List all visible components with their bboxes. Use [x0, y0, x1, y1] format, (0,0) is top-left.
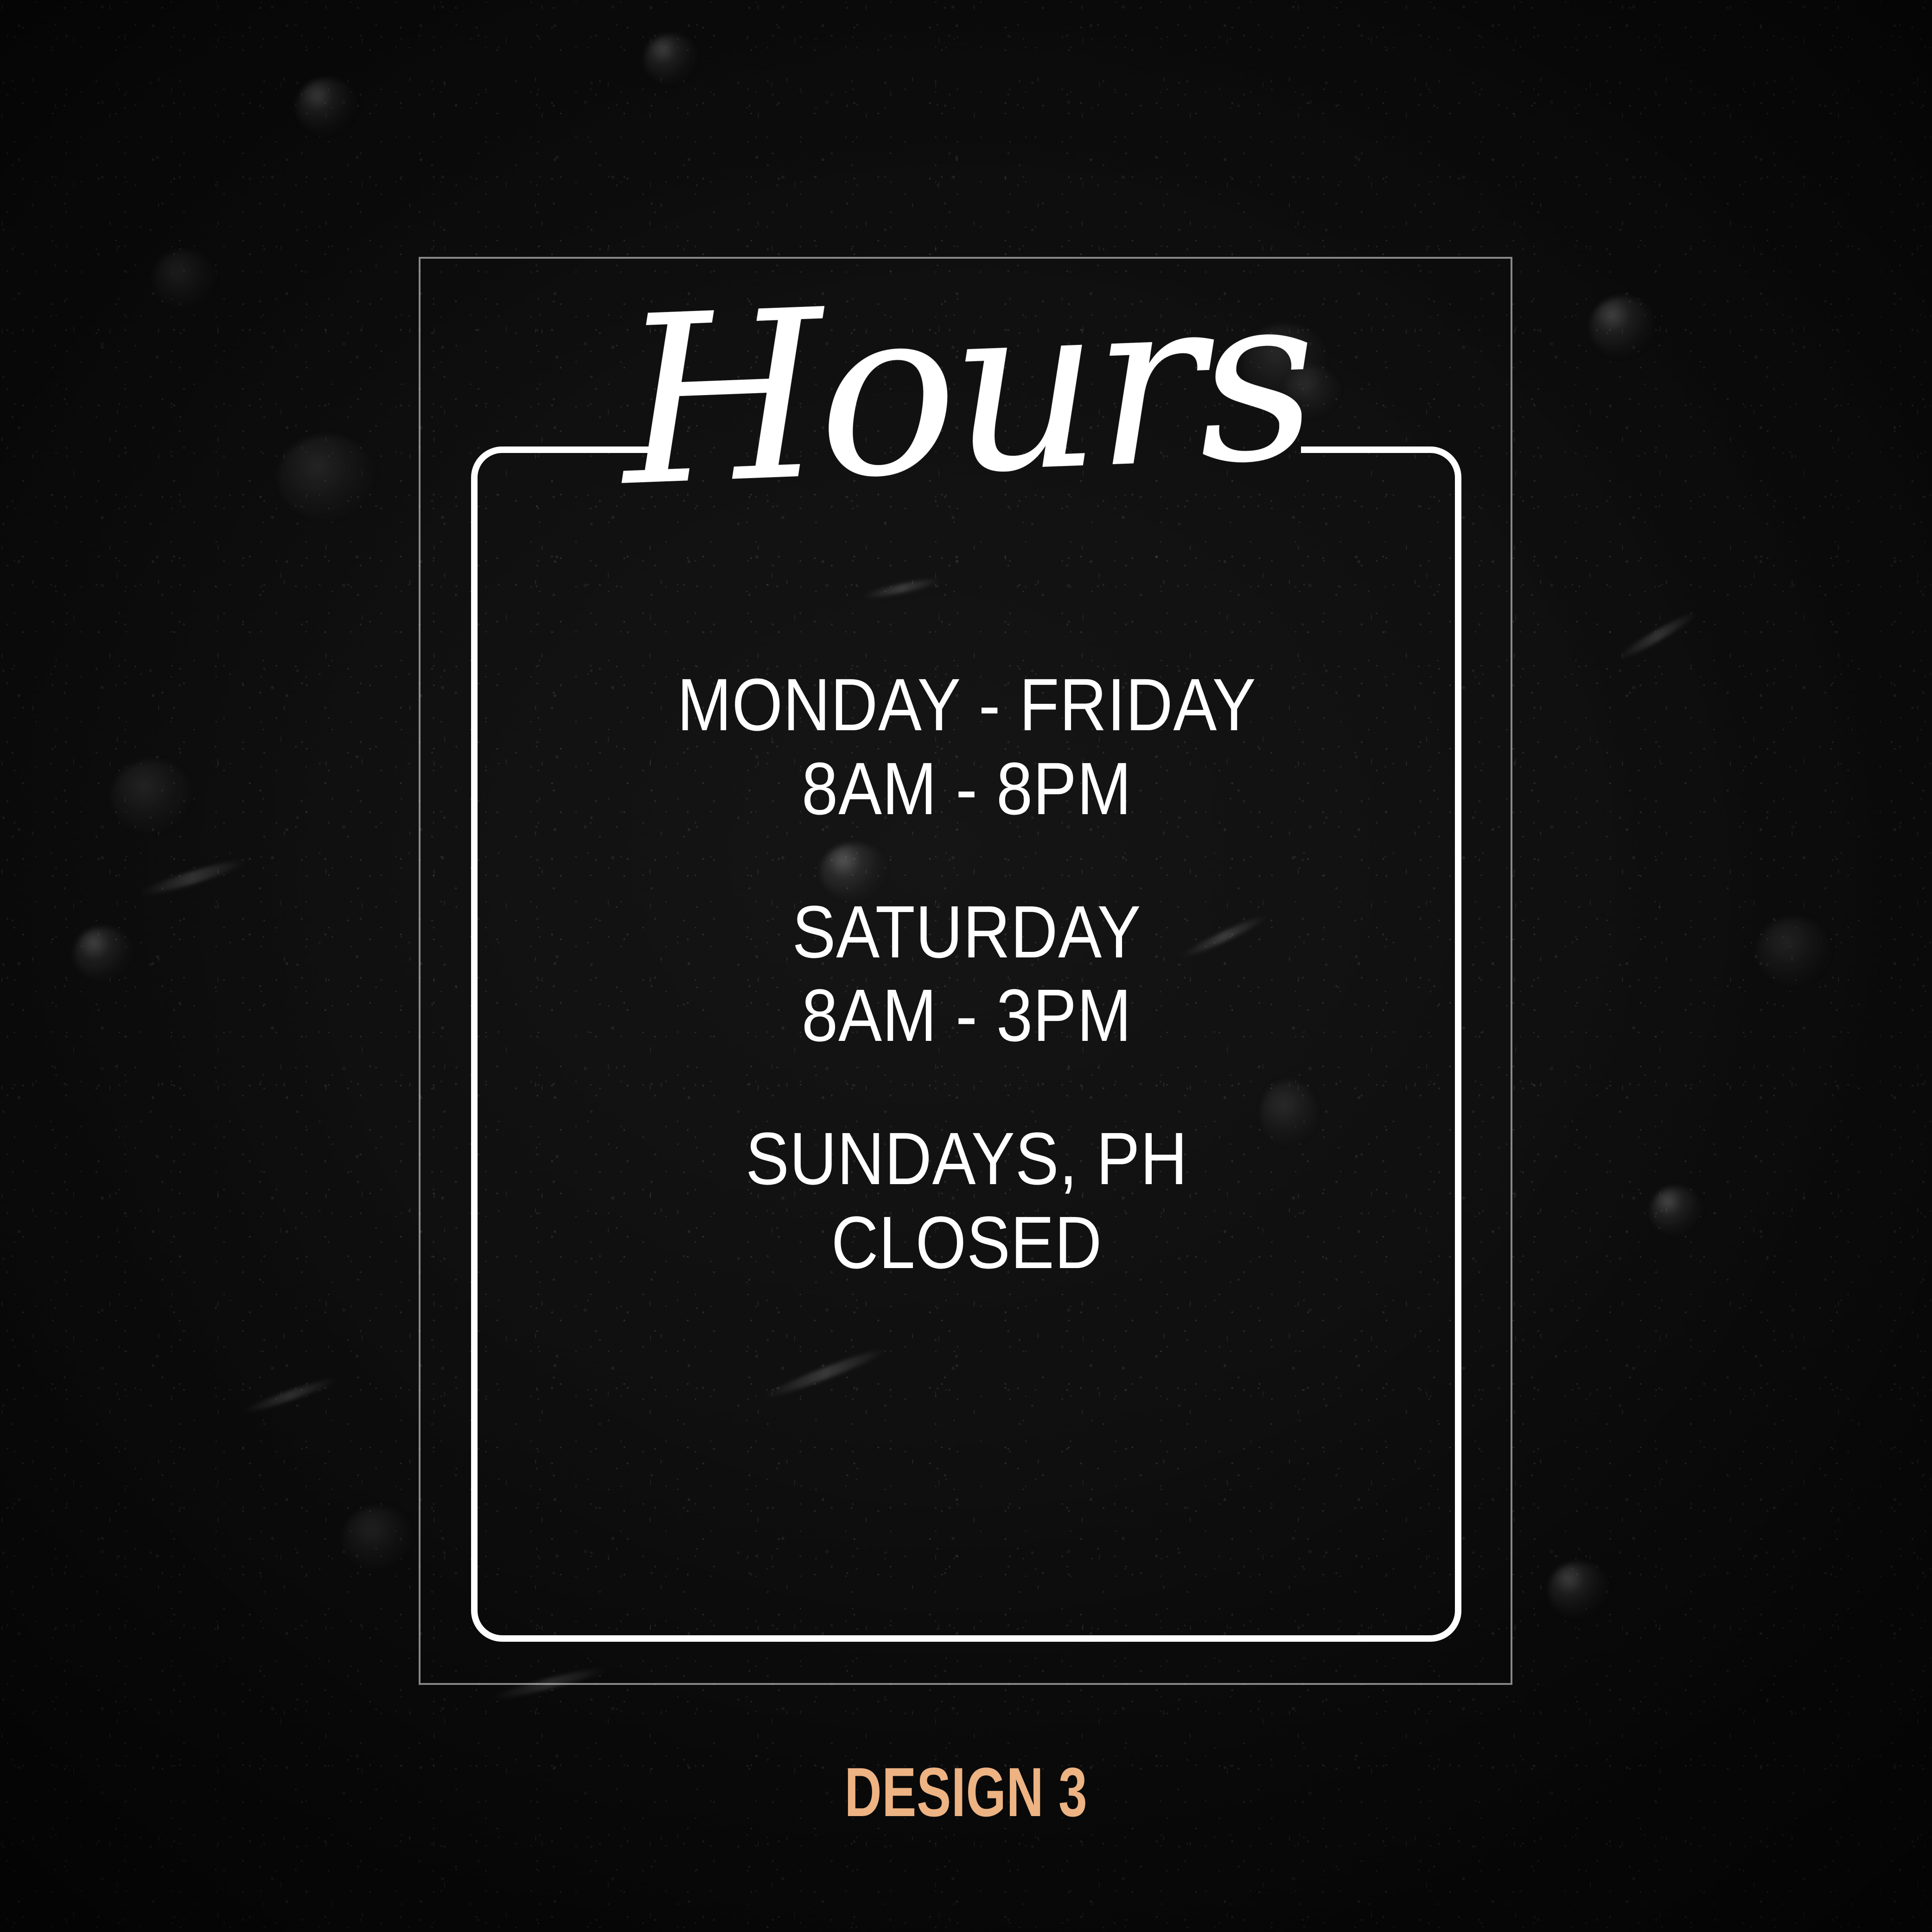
hours-time: 8AM - 8PM	[532, 747, 1401, 831]
hours-time: 8AM - 3PM	[532, 974, 1401, 1058]
water-bead	[111, 760, 192, 832]
design-variant-label: DESIGN 3	[251, 1757, 1681, 1827]
hours-entry: SATURDAY 8AM - 3PM	[473, 890, 1460, 1058]
hours-time: CLOSED	[532, 1201, 1401, 1285]
hours-entry: SUNDAYS, PH CLOSED	[473, 1117, 1460, 1285]
water-bead	[1651, 1187, 1702, 1236]
water-bead	[644, 35, 698, 83]
hours-entry: MONDAY - FRIDAY 8AM - 8PM	[473, 663, 1460, 831]
water-bead	[1549, 1562, 1609, 1617]
opening-hours-list: MONDAY - FRIDAY 8AM - 8PM SATURDAY 8AM -…	[473, 663, 1460, 1285]
hours-days: SATURDAY	[532, 890, 1401, 974]
water-bead	[297, 79, 357, 134]
water-bead	[1757, 918, 1831, 985]
hours-days: SUNDAYS, PH	[532, 1117, 1401, 1201]
hours-poster: Hours MONDAY - FRIDAY 8AM - 8PM SATURDAY…	[0, 0, 1932, 1932]
water-bead	[343, 1507, 413, 1569]
water-bead	[153, 250, 216, 308]
hours-days: MONDAY - FRIDAY	[532, 663, 1401, 747]
water-bead	[74, 927, 132, 981]
